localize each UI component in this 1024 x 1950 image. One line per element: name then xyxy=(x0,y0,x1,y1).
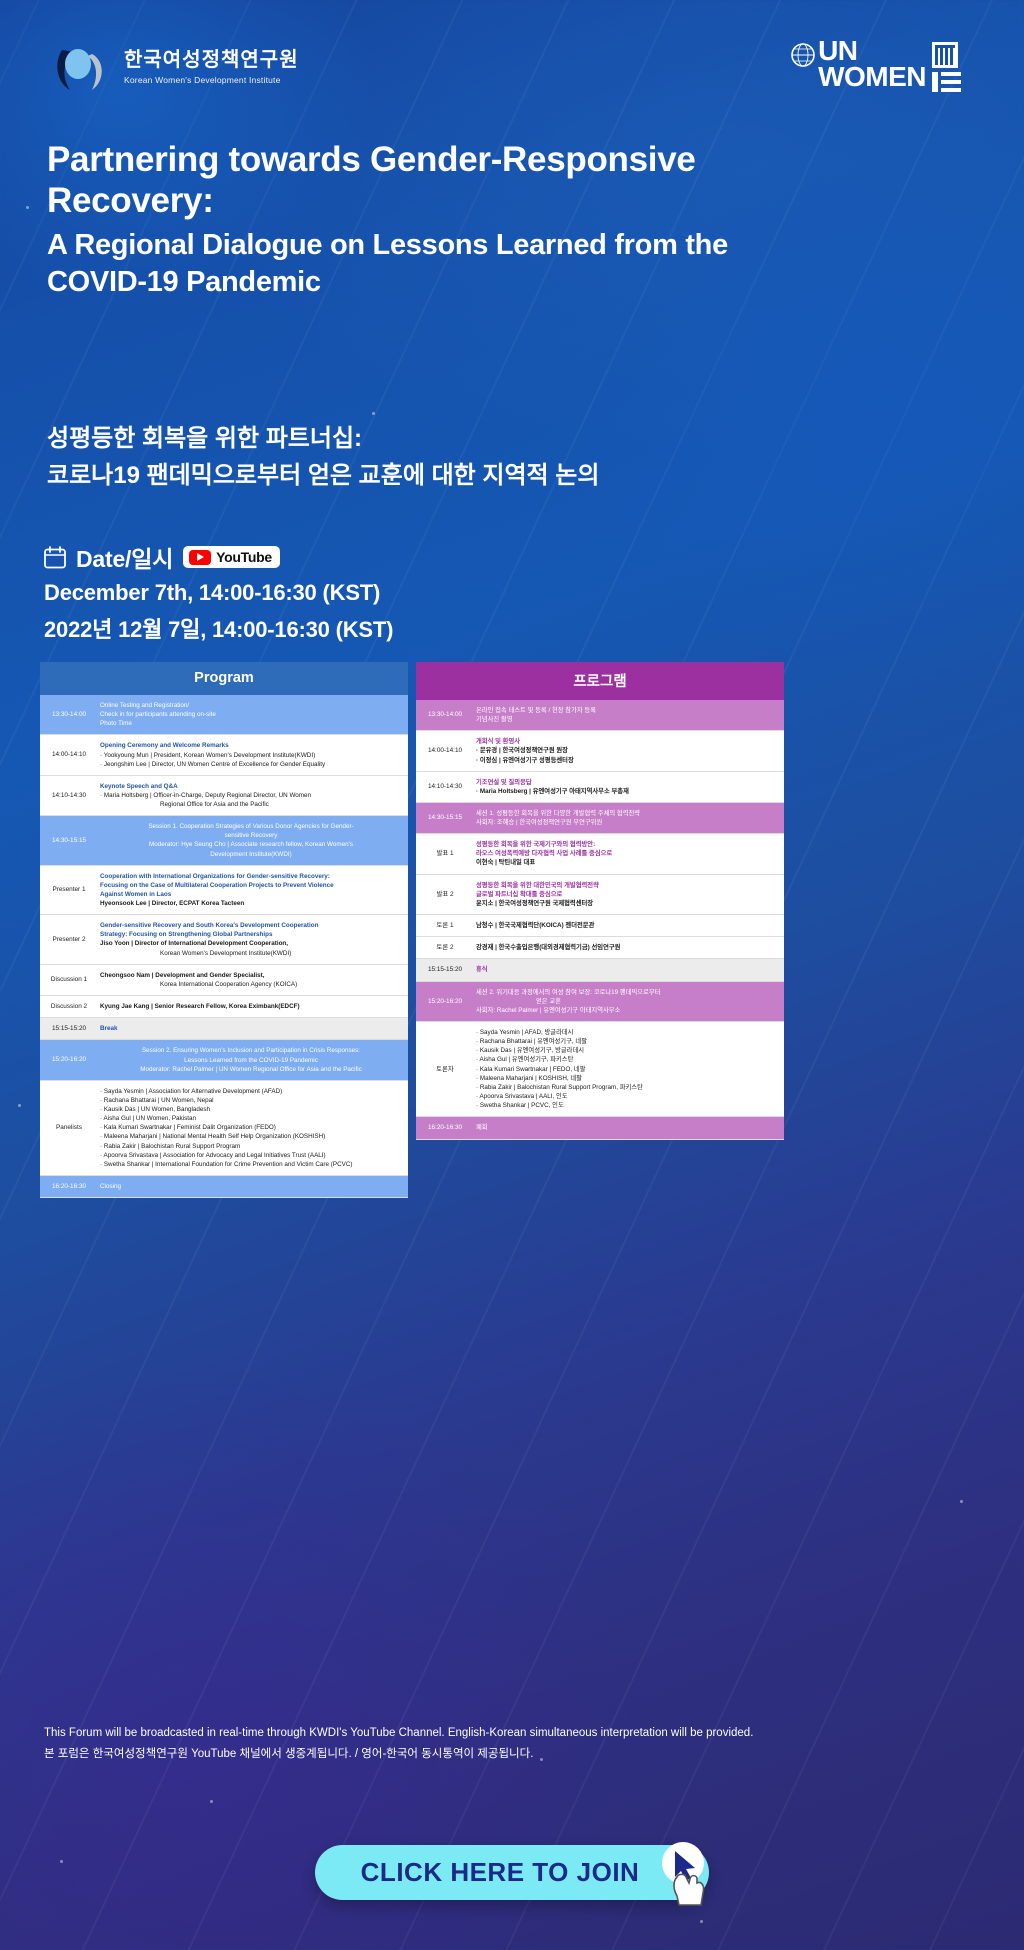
program-rows-en: 13:30-14:00Online Testing and Registrati… xyxy=(40,695,408,1198)
table-row: 발표 2성평등한 회복을 위한 대한민국의 개발협력전략글로벌 파트너십 확대를… xyxy=(416,875,784,915)
date-line-ko: 2022년 12월 7일, 14:00-16:30 (KST) xyxy=(44,612,393,644)
row-line: · Sayda Yesmin | Association for Alterna… xyxy=(100,1087,402,1096)
table-row: Discussion 2Kyung Jae Kang | Senior Rese… xyxy=(40,996,408,1018)
program-table-korean: 프로그램 13:30-14:00온라인 접속 테스트 및 등록 / 현장 참가자… xyxy=(416,662,784,1198)
row-line: 성평등한 회복을 위한 대한민국의 개발협력전략 xyxy=(476,881,778,890)
table-row: 토론 1남청수 | 한국국제협력단(KOICA) 젠더전문관 xyxy=(416,915,784,937)
row-line: · Maleena Maharjani | National Mental He… xyxy=(100,1132,402,1141)
row-body: Gender-sensitive Recovery and South Kore… xyxy=(98,915,408,964)
table-row: 14:30-15:15Session 1. Cooperation Strate… xyxy=(40,816,408,866)
row-line: Opening Ceremony and Welcome Remarks xyxy=(100,741,402,750)
row-body: 개회식 및 환영사· 문유경 | 한국여성정책연구원 원장· 이정심 | 유엔여… xyxy=(474,731,784,770)
row-time: 15:20-16:20 xyxy=(416,982,474,1021)
table-row: 토론자· Sayda Yesmin | AFAD, 방글라데시· Rachana… xyxy=(416,1022,784,1117)
row-line: 사회자: 조혜승 | 한국여성정책연구원 부연구위원 xyxy=(476,818,778,827)
table-row: 토론 2강경재 | 한국수출입은행(대외경제협력기금) 선임연구원 xyxy=(416,937,784,959)
row-time: 14:30-15:15 xyxy=(40,816,98,865)
un-women-logo: UN WOMEN xyxy=(790,38,976,99)
kwdi-logo-icon xyxy=(52,44,114,94)
row-line: Closing xyxy=(100,1182,402,1191)
join-button-area: CLICK HERE TO JOIN xyxy=(0,1845,1024,1900)
row-body: 세션 2. 위기대응 과정에서의 여성 참여 보장: 코로나19 팬데믹으로부터… xyxy=(474,982,784,1021)
row-time: Discussion 1 xyxy=(40,965,98,995)
row-time: 15:20-16:20 xyxy=(40,1040,98,1079)
row-line: Gender-sensitive Recovery and South Kore… xyxy=(100,921,402,930)
row-body: 성평등한 회복을 위한 대한민국의 개발협력전략글로벌 파트너십 확대를 중심으… xyxy=(474,875,784,914)
row-body: Session 2. Ensuring Women's Inclusion an… xyxy=(98,1040,408,1079)
table-row: 발표 1성평등한 회복을 위한 국제기구와의 협력방안:라오스 여성폭력예방 다… xyxy=(416,834,784,874)
row-line: · Rabia Zakir | Balochistan Rural Suppor… xyxy=(476,1083,778,1092)
date-label: Date/일시 xyxy=(76,540,173,574)
row-line: sensitive Recovery xyxy=(100,831,402,840)
row-time: 14:10-14:30 xyxy=(416,772,474,802)
row-time: Presenter 2 xyxy=(40,915,98,964)
table-row: Presenter 2Gender-sensitive Recovery and… xyxy=(40,915,408,965)
row-body: Closing xyxy=(98,1176,408,1197)
row-line: · Kala Kumari Swartnakar | FEDO, 네팔 xyxy=(476,1065,778,1074)
table-row: Discussion 1Cheongsoo Nam | Development … xyxy=(40,965,408,996)
program-rows-ko: 13:30-14:00온라인 접속 테스트 및 등록 / 현장 참가자 등록기념… xyxy=(416,700,784,1140)
row-body: 세션 1. 성평등한 회복을 위한 다양한 개발협력 주체의 협력전략사회자: … xyxy=(474,803,784,833)
page-title: Partnering towards Gender-Responsive Rec… xyxy=(47,140,747,300)
row-line: 남청수 | 한국국제협력단(KOICA) 젠더전문관 xyxy=(476,921,778,930)
table-row: 15:15-15:20Break xyxy=(40,1018,408,1040)
row-line: · Jeongshim Lee | Director, UN Women Cen… xyxy=(100,760,402,769)
row-time: 13:30-14:00 xyxy=(416,700,474,730)
un-women-bars-icon xyxy=(932,42,976,99)
row-line: · Kala Kumari Swartnakar | Feminist Dali… xyxy=(100,1123,402,1132)
row-body: · Sayda Yesmin | Association for Alterna… xyxy=(98,1081,408,1175)
row-line: · Maria Holtsberg | 유엔여성기구 아태지역사무소 부총재 xyxy=(476,787,778,796)
row-line: Cooperation with International Organizat… xyxy=(100,872,402,881)
table-row: 16:20-16:30Closing xyxy=(40,1176,408,1198)
row-line: Session 1. Cooperation Strategies of Var… xyxy=(100,822,402,831)
row-body: 온라인 접속 테스트 및 등록 / 현장 참가자 등록기념사진 촬영 xyxy=(474,700,784,730)
row-time: 15:15-15:20 xyxy=(40,1018,98,1039)
row-body: Cheongsoo Nam | Development and Gender S… xyxy=(98,965,408,995)
footer-note: This Forum will be broadcasted in real-t… xyxy=(44,1723,984,1766)
row-line: · Aisha Gul | UN Women, Pakistan xyxy=(100,1114,402,1123)
row-time: 토론자 xyxy=(416,1022,474,1116)
row-time: 15:15-15:20 xyxy=(416,959,474,980)
row-line: 얻은 교훈 xyxy=(476,997,778,1006)
row-line: 글로벌 파트너십 확대를 중심으로 xyxy=(476,890,778,899)
row-line: · Yookyoung Mun | President, Korean Wome… xyxy=(100,751,402,760)
row-time: 14:00-14:10 xyxy=(416,731,474,770)
row-line: Jiso Yoon | Director of International De… xyxy=(100,939,402,948)
row-time: Discussion 2 xyxy=(40,996,98,1017)
row-line: Hyeonsook Lee | Director, ECPAT Korea Ta… xyxy=(100,899,402,908)
row-body: 성평등한 회복을 위한 국제기구와의 협력방안:라오스 여성폭력예방 다자협력 … xyxy=(474,834,784,873)
row-line: 라오스 여성폭력예방 다자협력 사업 사례를 중심으로 xyxy=(476,849,778,858)
row-line: 성평등한 회복을 위한 국제기구와의 협력방안: xyxy=(476,840,778,849)
kwdi-logo: 한국여성정책연구원 Korean Women's Development Ins… xyxy=(52,44,299,94)
row-line: 휴식 xyxy=(476,965,778,974)
date-line-en: December 7th, 14:00-16:30 (KST) xyxy=(44,580,393,606)
row-body: 강경재 | 한국수출입은행(대외경제협력기금) 선임연구원 xyxy=(474,937,784,958)
row-line: · Apoorva Srivastava | Association for A… xyxy=(100,1151,402,1160)
table-row: 14:10-14:30기조연설 및 질의응답· Maria Holtsberg … xyxy=(416,772,784,803)
row-line: Break xyxy=(100,1024,402,1033)
row-time: 토론 1 xyxy=(416,915,474,936)
row-line: Korea International Cooperation Agency (… xyxy=(100,980,402,989)
program-table-english: Program 13:30-14:00Online Testing and Re… xyxy=(40,662,408,1198)
row-body: Opening Ceremony and Welcome Remarks· Yo… xyxy=(98,735,408,774)
table-row: 13:30-14:00Online Testing and Registrati… xyxy=(40,695,408,735)
row-time: 14:30-15:15 xyxy=(416,803,474,833)
youtube-badge[interactable]: YouTube xyxy=(183,546,280,568)
row-line: 기념사진 촬영 xyxy=(476,715,778,724)
calendar-icon xyxy=(44,546,66,569)
row-line: · Rabia Zakir | Balochistan Rural Suppor… xyxy=(100,1142,402,1151)
row-line: 강경재 | 한국수출입은행(대외경제협력기금) 선임연구원 xyxy=(476,943,778,952)
row-line: · Rachana Bhattarai | UN Women, Nepal xyxy=(100,1096,402,1105)
row-line: Photo Time xyxy=(100,719,402,728)
row-time: 16:20-16:30 xyxy=(40,1176,98,1197)
join-button-label: CLICK HERE TO JOIN xyxy=(361,1857,640,1887)
row-line: · 문유경 | 한국여성정책연구원 원장 xyxy=(476,746,778,755)
table-row: 15:20-16:20Session 2. Ensuring Women's I… xyxy=(40,1040,408,1080)
row-line: Focusing on the Case of Multilateral Coo… xyxy=(100,881,402,890)
row-line: Kyung Jae Kang | Senior Research Fellow,… xyxy=(100,1002,402,1011)
table-row: 14:00-14:10개회식 및 환영사· 문유경 | 한국여성정책연구원 원장… xyxy=(416,731,784,771)
program-tables: Program 13:30-14:00Online Testing and Re… xyxy=(40,662,984,1198)
row-line: · Maleena Maharjani | KOSHISH, 네팔 xyxy=(476,1074,778,1083)
row-time: Presenter 1 xyxy=(40,866,98,915)
row-line: 개회식 및 환영사 xyxy=(476,737,778,746)
row-line: · Maria Holtsberg | Officer-in-Charge, D… xyxy=(100,791,402,800)
row-line: 폐회 xyxy=(476,1123,778,1132)
header: 한국여성정책연구원 Korean Women's Development Ins… xyxy=(0,38,1024,110)
row-line: Moderator: Rachel Palmer | UN Women Regi… xyxy=(100,1065,402,1074)
hand-cursor-icon xyxy=(653,1841,715,1911)
footer-note-ko: 본 포럼은 한국여성정책연구원 YouTube 채널에서 생중계됩니다. / 영… xyxy=(44,1744,984,1765)
row-line: Regional Office for Asia and the Pacific xyxy=(100,800,402,809)
row-body: 휴식 xyxy=(474,959,784,980)
row-time: 발표 1 xyxy=(416,834,474,873)
row-line: · Swetha Shankar | International Foundat… xyxy=(100,1160,402,1169)
row-line: Against Women in Laos xyxy=(100,890,402,899)
row-body: Session 1. Cooperation Strategies of Var… xyxy=(98,816,408,865)
table-row: Panelists· Sayda Yesmin | Association fo… xyxy=(40,1081,408,1176)
row-line: 윤지소 | 한국여성정책연구원 국제협력센터장 xyxy=(476,899,778,908)
table-row: 14:00-14:10Opening Ceremony and Welcome … xyxy=(40,735,408,775)
row-line: · Sayda Yesmin | AFAD, 방글라데시 xyxy=(476,1028,778,1037)
table-row: 15:20-16:20세션 2. 위기대응 과정에서의 여성 참여 보장: 코로… xyxy=(416,982,784,1022)
row-line: Development Institute(KWDI) xyxy=(100,850,402,859)
table-row: 16:20-16:30폐회 xyxy=(416,1117,784,1139)
row-time: 16:20-16:30 xyxy=(416,1117,474,1138)
row-body: 기조연설 및 질의응답· Maria Holtsberg | 유엔여성기구 아태… xyxy=(474,772,784,802)
title-main-en: Partnering towards Gender-Responsive Rec… xyxy=(47,140,696,220)
row-line: Keynote Speech and Q&A xyxy=(100,782,402,791)
row-line: · Rachana Bhattarai | 유엔여성기구, 네팔 xyxy=(476,1037,778,1046)
row-line: 세션 2. 위기대응 과정에서의 여성 참여 보장: 코로나19 팬데믹으로부터 xyxy=(476,988,778,997)
row-line: 기조연설 및 질의응답 xyxy=(476,778,778,787)
title-sub-ko: 코로나19 팬데믹으로부터 얻은 교훈에 대한 지역적 논의 xyxy=(47,457,807,494)
row-body: 폐회 xyxy=(474,1117,784,1138)
row-line: · Kausik Das | UN Women, Bangladesh xyxy=(100,1105,402,1114)
row-line: Moderator: Hye Seung Cho | Associate res… xyxy=(100,840,402,849)
row-line: · 이정심 | 유엔여성기구 성평등센터장 xyxy=(476,756,778,765)
kwdi-logo-korean: 한국여성정책연구원 xyxy=(124,49,299,71)
row-line: Check in for participants attending on-s… xyxy=(100,710,402,719)
row-line: 사회자: Rachel Palmer | 유엔여성기구 아태지역사무소 xyxy=(476,1006,778,1015)
row-time: 13:30-14:00 xyxy=(40,695,98,734)
row-line: · Swetha Shankar | PCVC, 인도 xyxy=(476,1101,778,1110)
title-main-ko: 성평등한 회복을 위한 파트너십: xyxy=(47,420,807,457)
row-time: 발표 2 xyxy=(416,875,474,914)
row-line: Session 2. Ensuring Women's Inclusion an… xyxy=(100,1046,402,1055)
row-line: Korean Women's Development Institute(KWD… xyxy=(100,949,402,958)
un-emblem-icon xyxy=(790,42,816,73)
row-time: Panelists xyxy=(40,1081,98,1175)
click-here-to-join-button[interactable]: CLICK HERE TO JOIN xyxy=(315,1845,710,1900)
row-line: · Kausik Das | 유엔여성기구, 방글라데시 xyxy=(476,1046,778,1055)
row-body: · Sayda Yesmin | AFAD, 방글라데시· Rachana Bh… xyxy=(474,1022,784,1116)
row-time: 14:10-14:30 xyxy=(40,776,98,815)
row-line: Online Testing and Registration/ xyxy=(100,701,402,710)
youtube-play-icon xyxy=(189,550,211,565)
row-line: 세션 1. 성평등한 회복을 위한 다양한 개발협력 주체의 협력전략 xyxy=(476,809,778,818)
row-body: Online Testing and Registration/Check in… xyxy=(98,695,408,734)
table-row: Presenter 1Cooperation with Internationa… xyxy=(40,866,408,916)
table-row: 14:10-14:30Keynote Speech and Q&A· Maria… xyxy=(40,776,408,816)
row-time: 토론 2 xyxy=(416,937,474,958)
row-body: Keynote Speech and Q&A· Maria Holtsberg … xyxy=(98,776,408,815)
row-body: 남청수 | 한국국제협력단(KOICA) 젠더전문관 xyxy=(474,915,784,936)
row-line: 온라인 접속 테스트 및 등록 / 현장 참가자 등록 xyxy=(476,706,778,715)
row-line: Cheongsoo Nam | Development and Gender S… xyxy=(100,971,402,980)
program-table-header-ko: 프로그램 xyxy=(416,662,784,700)
row-line: Strategy: Focusing on Strengthening Glob… xyxy=(100,930,402,939)
page-title-korean: 성평등한 회복을 위한 파트너십: 코로나19 팬데믹으로부터 얻은 교훈에 대… xyxy=(47,420,807,494)
footer-note-en: This Forum will be broadcasted in real-t… xyxy=(44,1723,984,1744)
row-body: Cooperation with International Organizat… xyxy=(98,866,408,915)
row-body: Break xyxy=(98,1018,408,1039)
title-sub-en: A Regional Dialogue on Lessons Learned f… xyxy=(47,227,747,300)
row-time: 14:00-14:10 xyxy=(40,735,98,774)
row-line: Lessons Learned from the COVID-19 Pandem… xyxy=(100,1056,402,1065)
un-women-line2: WOMEN xyxy=(818,61,926,92)
row-body: Kyung Jae Kang | Senior Research Fellow,… xyxy=(98,996,408,1017)
table-row: 13:30-14:00온라인 접속 테스트 및 등록 / 현장 참가자 등록기념… xyxy=(416,700,784,731)
date-block: Date/일시 YouTube December 7th, 14:00-16:3… xyxy=(44,540,393,644)
row-line: 이현숙 | 탁틴내일 대표 xyxy=(476,858,778,867)
kwdi-logo-english: Korean Women's Development Institute xyxy=(124,75,281,85)
youtube-badge-label: YouTube xyxy=(216,549,272,565)
row-line: · Apoorva Srivastava | AALI, 인도 xyxy=(476,1092,778,1101)
table-row: 14:30-15:15세션 1. 성평등한 회복을 위한 다양한 개발협력 주체… xyxy=(416,803,784,834)
program-table-header-en: Program xyxy=(40,662,408,695)
table-row: 15:15-15:20휴식 xyxy=(416,959,784,981)
row-line: · Aisha Gul | 유엔여성기구, 파키스탄 xyxy=(476,1055,778,1064)
